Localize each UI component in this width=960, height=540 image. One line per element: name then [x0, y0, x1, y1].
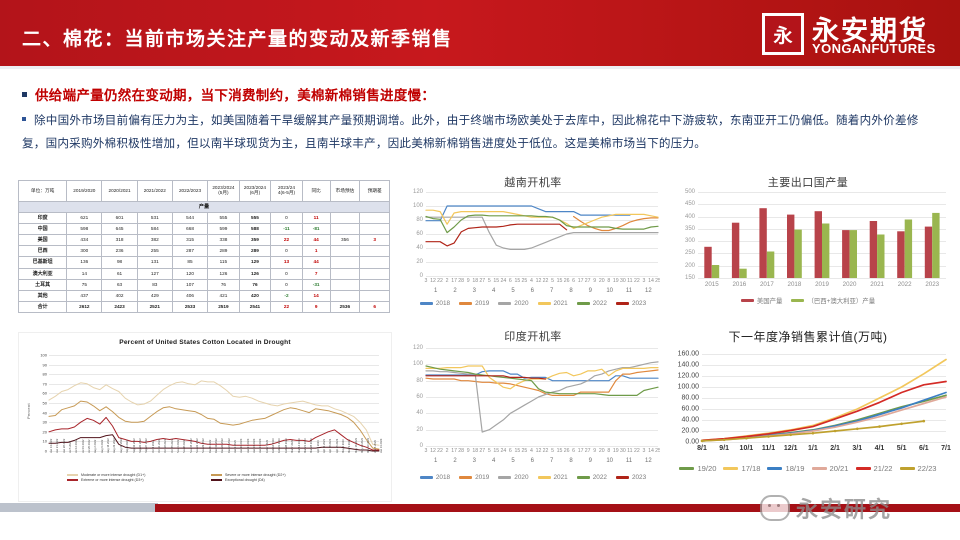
axis-tick-label: Jul 5 2022 — [69, 441, 72, 453]
axis-tick-label: 60 — [416, 231, 423, 237]
axis-tick-label: 9 — [467, 448, 470, 454]
table-cell — [330, 268, 360, 279]
axis-tick-label: 2020 — [843, 281, 857, 288]
legend-item[interactable]: 2023 — [616, 474, 646, 481]
data-series-line — [426, 362, 658, 432]
legend-item[interactable]: 20/21 — [812, 464, 849, 473]
header-divider — [0, 66, 960, 69]
axis-tick-label: 40 — [416, 410, 423, 416]
legend-item[interactable]: 2019 — [459, 300, 489, 307]
axis-tick-label: Aug 16 2022 — [107, 438, 110, 453]
axis-month-label: 3 — [473, 288, 476, 294]
bullet-secondary-text: 除中国外市场目前偏有压力为主，如美国随着干旱缓解其产量预期调增。此外，由于终端市… — [22, 114, 919, 150]
axis-month-label: 9 — [589, 458, 592, 464]
bar — [704, 247, 711, 278]
legend-item[interactable]: 19/20 — [679, 464, 716, 473]
bar — [767, 252, 774, 279]
table-cell: 13 — [271, 257, 303, 268]
axis-tick-label: 28 — [458, 278, 464, 284]
axis-tick-label: Sep 6 2022 — [126, 440, 129, 453]
axis-tick-label: 2023 — [925, 281, 939, 288]
axis-tick-label: 20 — [416, 427, 423, 433]
legend-swatch — [538, 302, 551, 304]
table-cell: 584 — [137, 224, 172, 235]
axis-month-label: 3 — [473, 458, 476, 464]
table-cell: 555 — [208, 213, 240, 224]
axis-tick-label: Jul 12 2022 — [75, 440, 78, 453]
table-cell: 14 — [302, 290, 330, 301]
axis-tick-label: Jul 19 2022 — [82, 440, 85, 453]
axis-month-label: 7 — [550, 288, 553, 294]
table-row: 中国598645584668599588-11-81 — [19, 224, 390, 235]
axis-tick-label: 2021 — [870, 281, 884, 288]
axis-tick-label: 18 — [472, 448, 478, 454]
axis-tick-label: 3/1 — [852, 445, 862, 452]
axis-tick-label: Jul 26 2022 — [88, 440, 91, 453]
table-col-header: 市场预估 — [330, 181, 360, 202]
axis-month-label: 5 — [511, 458, 514, 464]
legend-label: 2019 — [475, 300, 489, 307]
table-cell: 588 — [239, 224, 271, 235]
legend-label: 2021 — [554, 474, 568, 481]
axis-tick-label: 20 — [416, 259, 423, 265]
axis-tick-label: Jun 6 2023 — [374, 440, 377, 453]
axis-tick-label: 12 — [430, 448, 436, 454]
table-cell — [330, 257, 360, 268]
legend-label: Extreme or more intense drought (D3+) — [81, 478, 144, 482]
axis-tick-label: 2019 — [815, 281, 829, 288]
axis-tick-label: 400 — [685, 214, 695, 220]
axis-tick-label: 350 — [685, 226, 695, 232]
axis-month-label: 12 — [645, 288, 652, 294]
plot-area: 0.0020.0040.0060.0080.00100.00120.00140.… — [702, 354, 946, 442]
table-cell: 136 — [67, 257, 102, 268]
axis-tick-label: 17 — [578, 278, 584, 284]
axis-tick-label: Oct 11 2022 — [158, 439, 161, 453]
table-cell: 287 — [172, 246, 207, 257]
table-cell: 6 — [360, 301, 390, 312]
table-cell: 11 — [302, 213, 330, 224]
axis-tick-label: 60 — [29, 391, 47, 396]
legend-label: 20/21 — [830, 464, 849, 473]
axis-tick-label: 2018 — [788, 281, 802, 288]
axis-month-label: 10 — [606, 288, 613, 294]
axis-tick-label: 100 — [413, 203, 423, 209]
bar — [870, 221, 877, 278]
axis-tick-label: 6 — [509, 448, 512, 454]
bullet-primary: 供给端产量仍然在变动期，当下消费制约，美棉新棉销售进度慢： — [22, 84, 932, 105]
axis-tick-label: Jan 3 2023 — [234, 440, 237, 453]
table-col-header: 2021/2022 — [137, 181, 172, 202]
axis-tick-label: 2/1 — [830, 445, 840, 452]
table-col-header: 2019/2020 — [67, 181, 102, 202]
axis-month-label: 8 — [569, 288, 572, 294]
table-cell: 2541 — [239, 301, 271, 312]
plot-area: 1502002503003504004505002015201620172018… — [698, 192, 946, 278]
axis-tick-label: 2015 — [705, 281, 719, 288]
axis-month-label: 9 — [589, 288, 592, 294]
legend-swatch — [459, 476, 472, 478]
table-row: 巴基斯坦13698131851151291344 — [19, 257, 390, 268]
axis-tick-label: Mar 28 2023 — [310, 438, 313, 453]
bar — [850, 230, 857, 278]
chart-svg — [49, 355, 379, 451]
legend-item[interactable]: Moderate or more intense drought (D1+) — [67, 473, 203, 477]
production-table-panel: 单位：万吨2019/20202020/20212021/20222022/202… — [18, 180, 390, 315]
table-cell — [360, 279, 390, 290]
axis-tick-label: 15 — [515, 448, 521, 454]
legend-swatch — [741, 299, 754, 301]
data-series-line — [702, 395, 946, 441]
axis-tick-label: 2017 — [760, 281, 774, 288]
axis-tick-label: Sep 13 2022 — [133, 438, 136, 453]
bar — [905, 220, 912, 279]
axis-tick-label: 12 — [536, 448, 542, 454]
legend-label: （巴西+澳大利亚）产量 — [807, 296, 875, 305]
logo-name-en: YONGANFUTURES — [812, 41, 936, 56]
axis-tick-label: 2 — [446, 278, 449, 284]
table-cell: 127 — [137, 268, 172, 279]
table-row-label: 合计 — [19, 301, 67, 312]
axis-tick-label: Apr 25 2023 — [336, 439, 339, 453]
legend-item[interactable]: 2018 — [420, 300, 450, 307]
axis-tick-label: 5/1 — [897, 445, 907, 452]
axis-tick-label: Nov 15 2022 — [190, 438, 193, 453]
axis-tick-label: 10 — [29, 439, 47, 444]
legend-label: 2023 — [632, 300, 646, 307]
axis-tick-label: 24 — [500, 278, 506, 284]
table-cell: 22 — [271, 301, 303, 312]
legend-item[interactable]: 2018 — [420, 474, 450, 481]
legend-item[interactable]: （巴西+澳大利亚）产量 — [791, 296, 875, 305]
table-cell: 437 — [67, 290, 102, 301]
legend-label: 2022 — [593, 474, 607, 481]
axis-tick-label: 200 — [685, 263, 695, 269]
axis-tick-label: 30 — [29, 420, 47, 425]
legend-item[interactable]: 2020 — [498, 300, 528, 307]
axis-month-label: 2 — [453, 288, 456, 294]
legend-item[interactable]: 18/19 — [767, 464, 804, 473]
axis-tick-label: 11/1 — [762, 445, 775, 452]
legend-label: 2018 — [436, 474, 450, 481]
legend-swatch — [211, 479, 222, 481]
chart-title: 下一年度净销售累计值(万吨) — [660, 328, 956, 345]
axis-tick-label: 18 — [472, 278, 478, 284]
table-cell: 85 — [172, 257, 207, 268]
table-cell: 2519 — [208, 301, 240, 312]
axis-tick-label: Jan 31 2023 — [259, 439, 262, 453]
legend-label: Severe or more intense drought (D2+) — [225, 473, 286, 477]
legend-item[interactable]: 21/22 — [856, 464, 893, 473]
table-cell: 98 — [102, 257, 137, 268]
table-section-label: 产量 — [19, 202, 390, 213]
table-cell: -31 — [302, 279, 330, 290]
axis-tick-label: 6 — [572, 278, 575, 284]
axis-tick-label: Oct 4 2022 — [152, 440, 155, 453]
legend-item[interactable]: 2021 — [538, 300, 568, 307]
axis-tick-label: 100.00 — [678, 384, 699, 391]
table-col-header: 预期差 — [360, 181, 390, 202]
axis-tick-label: 2022 — [898, 281, 912, 288]
legend-swatch — [767, 467, 782, 470]
axis-tick-label: 0 — [420, 273, 423, 279]
axis-tick-label: 26 — [564, 448, 570, 454]
axis-tick-label: Dec 27 2022 — [228, 438, 231, 453]
legend-swatch — [538, 476, 551, 478]
bar — [877, 235, 884, 279]
axis-tick-label: 60.00 — [681, 406, 699, 413]
axis-tick-label: Nov 22 2022 — [196, 438, 199, 453]
legend-label: 2023 — [632, 474, 646, 481]
table-cell: 2423 — [102, 301, 137, 312]
table-cell: 14 — [67, 268, 102, 279]
chart-svg — [426, 192, 658, 276]
legend-swatch — [812, 467, 827, 470]
legend-item[interactable]: Exceptional drought (D4) — [211, 478, 347, 482]
chart-svg — [702, 354, 946, 442]
legend-label: Moderate or more intense drought (D1+) — [81, 473, 145, 477]
legend-swatch — [616, 476, 629, 478]
axis-tick-label: 150 — [685, 275, 695, 281]
table-cell: 645 — [102, 224, 137, 235]
axis-tick-label: Jan 17 2023 — [247, 439, 250, 453]
axis-tick-label: Nov 8 2022 — [183, 440, 186, 453]
axis-tick-label: 14 — [648, 448, 654, 454]
axis-tick-label: 90 — [29, 362, 47, 367]
legend-label: 17/18 — [741, 464, 760, 473]
axis-tick-label: Mar 7 2023 — [291, 440, 294, 453]
axis-tick-label: Sep 20 2022 — [139, 438, 142, 453]
axis-tick-label: Jun 14 2022 — [50, 439, 53, 453]
bar — [842, 230, 849, 278]
bar — [732, 223, 739, 278]
table-cell: 76 — [208, 279, 240, 290]
table-cell: 126 — [208, 268, 240, 279]
bullet-secondary: 除中国外市场目前偏有压力为主，如美国随着干旱缓解其产量预期调增。此外，由于终端市… — [22, 110, 940, 155]
legend-swatch — [679, 467, 694, 470]
legend-item[interactable]: 2020 — [498, 474, 528, 481]
axis-tick-label: 80 — [416, 378, 423, 384]
legend-label: 美国产量 — [757, 296, 783, 305]
legend-swatch — [498, 476, 511, 478]
axis-tick-label: 15 — [493, 448, 499, 454]
chart-us-cotton-drought: Percent of United States Cotton Located … — [18, 332, 392, 502]
table-col-header: 2023/2024(5月) — [208, 181, 240, 202]
table-cell: 621 — [67, 213, 102, 224]
table-cell — [330, 246, 360, 257]
legend-item[interactable]: 2019 — [459, 474, 489, 481]
legend-item[interactable]: 2022 — [577, 474, 607, 481]
axis-tick-label: 5 — [488, 278, 491, 284]
axis-month-label: 2 — [453, 458, 456, 464]
axis-tick-label: 30 — [620, 278, 626, 284]
legend-item[interactable]: 2021 — [538, 474, 568, 481]
bar — [815, 211, 822, 278]
axis-tick-label: Oct 25 2022 — [171, 439, 174, 453]
axis-month-label: 1 — [434, 458, 437, 464]
table-cell: 406 — [172, 290, 207, 301]
legend-item[interactable]: 2022 — [577, 300, 607, 307]
table-cell — [360, 268, 390, 279]
bar — [759, 208, 766, 278]
axis-tick-label: 5 — [488, 448, 491, 454]
table-row-label: 印度 — [19, 213, 67, 224]
axis-tick-label: 70 — [29, 381, 47, 386]
axis-month-label: 4 — [492, 288, 495, 294]
legend-item[interactable]: 17/18 — [723, 464, 760, 473]
legend-swatch — [723, 467, 738, 470]
legend-label: 18/19 — [785, 464, 804, 473]
table-cell: 2521 — [137, 301, 172, 312]
chart-legend: 201820192020202120222023 — [392, 474, 674, 481]
axis-tick-label: Mar 21 2023 — [304, 438, 307, 453]
axis-tick-label: 50 — [29, 401, 47, 406]
chart-vietnam-operating-rate: 越南开机率 0204060801001203122221728918275152… — [392, 172, 674, 318]
axis-tick-label: 6 — [509, 278, 512, 284]
table-cell: 300 — [67, 246, 102, 257]
axis-tick-label: 3 — [642, 278, 645, 284]
axis-tick-label: 20 — [599, 448, 605, 454]
footer-bar-gray — [0, 503, 158, 512]
legend-label: Exceptional drought (D4) — [225, 478, 265, 482]
axis-tick-label: 6 — [572, 448, 575, 454]
axis-tick-label: 15 — [557, 278, 563, 284]
axis-tick-label: 100 — [29, 353, 47, 358]
axis-tick-label: Dec 13 2022 — [215, 438, 218, 453]
legend-swatch — [856, 467, 871, 470]
chart-title: Percent of United States Cotton Located … — [19, 339, 391, 346]
axis-tick-label: Jun 21 2022 — [56, 439, 59, 453]
table-cell: 0 — [271, 279, 303, 290]
axis-tick-label: 8/1 — [697, 445, 707, 452]
table-cell: 668 — [172, 224, 207, 235]
bar — [932, 213, 939, 278]
chart-major-exporter-production: 主要出口国产量 15020025030035040045050020152016… — [660, 172, 956, 318]
bar — [925, 227, 932, 278]
legend-swatch — [459, 302, 472, 304]
legend-item[interactable]: 2023 — [616, 300, 646, 307]
table-cell: 2536 — [330, 301, 360, 312]
axis-tick-label: 15 — [515, 278, 521, 284]
bullet-square-icon — [22, 92, 27, 97]
axis-tick-label: 100 — [413, 361, 423, 367]
table-cell: 75 — [67, 279, 102, 290]
table-cell — [330, 224, 360, 235]
table-row-label: 巴基斯坦 — [19, 257, 67, 268]
axis-tick-label: 300 — [685, 238, 695, 244]
bar — [794, 230, 801, 278]
axis-tick-label: 22 — [437, 278, 443, 284]
axis-tick-label: Dec 6 2022 — [209, 440, 212, 453]
axis-tick-label: 11 — [627, 448, 632, 454]
axis-tick-label: 4/1 — [875, 445, 885, 452]
legend-label: 2020 — [514, 300, 528, 307]
chart-legend: 19/2017/1818/1920/2121/2222/23 — [660, 464, 956, 473]
axis-tick-label: 19 — [613, 278, 619, 284]
axis-tick-label: 27 — [585, 448, 591, 454]
chart-legend: Moderate or more intense drought (D1+)Se… — [67, 473, 347, 482]
table-cell: 359 — [239, 235, 271, 246]
data-series-line — [702, 393, 946, 441]
axis-tick-label: 8 — [607, 448, 610, 454]
axis-tick-label: Aug 2 2022 — [94, 440, 97, 453]
axis-tick-label: Apr 4 2023 — [317, 440, 320, 453]
axis-tick-label: 30 — [620, 448, 626, 454]
table-cell: 44 — [302, 257, 330, 268]
axis-tick-label: May 16 2023 — [355, 438, 358, 453]
axis-tick-label: Jan 24 2023 — [253, 439, 256, 453]
axis-month-label: 7 — [550, 458, 553, 464]
chart-title: 主要出口国产量 — [660, 174, 956, 190]
axis-tick-label: 20.00 — [681, 428, 699, 435]
axis-tick-label: Apr 18 2023 — [329, 439, 332, 453]
table-cell: 44 — [302, 235, 330, 246]
axis-tick-label: 40 — [29, 410, 47, 415]
chart-legend: 201820192020202120222023 — [392, 300, 674, 307]
axis-tick-label: 24 — [500, 448, 506, 454]
axis-tick-label: 1/1 — [808, 445, 818, 452]
axis-tick-label: 25 — [522, 278, 528, 284]
legend-label: 2020 — [514, 474, 528, 481]
bar — [739, 269, 746, 278]
axis-tick-label: Sep 27 2022 — [145, 438, 148, 453]
legend-label: 2021 — [554, 300, 568, 307]
axis-tick-label: 20 — [29, 429, 47, 434]
wechat-icon — [760, 495, 790, 521]
table-cell: 120 — [172, 268, 207, 279]
table-cell: 63 — [102, 279, 137, 290]
table-col-header: 2020/2021 — [102, 181, 137, 202]
table-cell: 0 — [271, 268, 303, 279]
table-col-header: 2023/2024(6月) — [239, 181, 271, 202]
axis-tick-label: 15 — [557, 448, 563, 454]
axis-tick-label: 40.00 — [681, 417, 699, 424]
table-row-label: 澳大利亚 — [19, 268, 67, 279]
legend-item[interactable]: Extreme or more intense drought (D3+) — [67, 478, 203, 482]
axis-tick-label: Oct 18 2022 — [164, 439, 167, 453]
axis-tick-label: 5 — [551, 448, 554, 454]
legend-item[interactable]: 美国产量 — [741, 296, 783, 305]
table-cell: 2612 — [67, 301, 102, 312]
axis-tick-label: 15 — [493, 278, 499, 284]
plot-area: 0102030405060708090100Jun 14 2022Jun 21 … — [49, 355, 379, 451]
chart-india-operating-rate: 印度开机率 0204060801001203122221728918275152… — [392, 326, 674, 492]
legend-swatch — [577, 302, 590, 304]
table-cell: 0 — [271, 246, 303, 257]
axis-tick-label: 9 — [467, 278, 470, 284]
table-cell — [360, 257, 390, 268]
axis-tick-label: 9 — [593, 278, 596, 284]
legend-swatch — [420, 476, 433, 478]
legend-label: 2018 — [436, 300, 450, 307]
table-cell — [360, 246, 390, 257]
axis-tick-label: 250 — [685, 250, 695, 256]
table-row: 印度621601531544555555011 — [19, 213, 390, 224]
axis-tick-label: 3 — [425, 448, 428, 454]
axis-tick-label: 0 — [29, 449, 47, 454]
axis-tick-label: Nov 1 2022 — [177, 440, 180, 453]
axis-tick-label: Nov 29 2022 — [202, 438, 205, 453]
logo-mark-glyph: 永 — [765, 16, 801, 52]
bar — [712, 265, 719, 278]
chart-next-year-net-sales: 下一年度净销售累计值(万吨) 0.0020.0040.0060.0080.001… — [660, 320, 956, 490]
legend-item[interactable]: 22/23 — [900, 464, 937, 473]
table-cell: 338 — [208, 235, 240, 246]
legend-swatch — [67, 479, 78, 481]
axis-tick-label: 22 — [634, 448, 640, 454]
axis-tick-label: 9 — [593, 448, 596, 454]
legend-item[interactable]: Severe or more intense drought (D2+) — [211, 473, 347, 477]
